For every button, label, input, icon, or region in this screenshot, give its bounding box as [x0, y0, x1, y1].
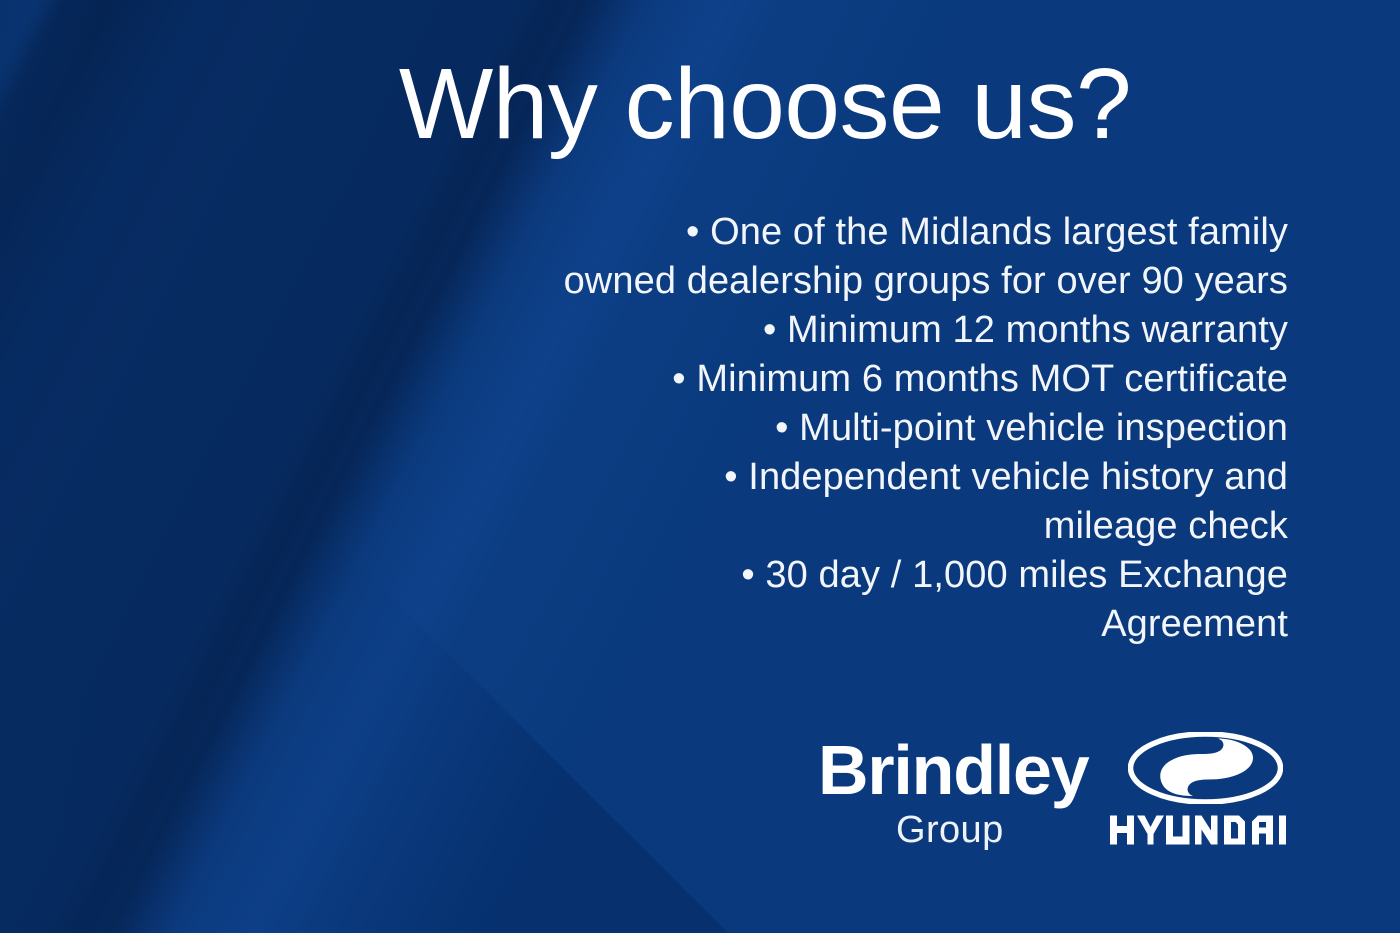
page-title: Why choose us? — [0, 48, 1400, 160]
list-item: • 30 day / 1,000 miles Exchange — [448, 551, 1288, 600]
promo-slide: Why choose us? • One of the Midlands lar… — [0, 0, 1400, 933]
hyundai-logo — [1108, 732, 1298, 854]
list-item: • Minimum 12 months warranty — [448, 306, 1288, 355]
hyundai-wordmark-icon — [1110, 814, 1296, 846]
list-item: • Minimum 6 months MOT certificate — [448, 355, 1288, 404]
hyundai-oval-h-icon — [1128, 732, 1283, 804]
brindley-wordmark: Brindley — [818, 735, 1088, 805]
list-item: • Multi-point vehicle inspection — [448, 404, 1288, 453]
brindley-group-label: Group — [896, 811, 1004, 849]
benefits-list: • One of the Midlands largest family own… — [448, 208, 1288, 649]
list-item: Agreement — [448, 600, 1288, 649]
list-item: owned dealership groups for over 90 year… — [448, 257, 1288, 306]
list-item: mileage check — [448, 502, 1288, 551]
list-item: • Independent vehicle history and — [448, 453, 1288, 502]
brindley-group-logo: Brindley Group — [818, 735, 1078, 855]
list-item: • One of the Midlands largest family — [448, 208, 1288, 257]
slide-content: Why choose us? • One of the Midlands lar… — [0, 0, 1400, 933]
